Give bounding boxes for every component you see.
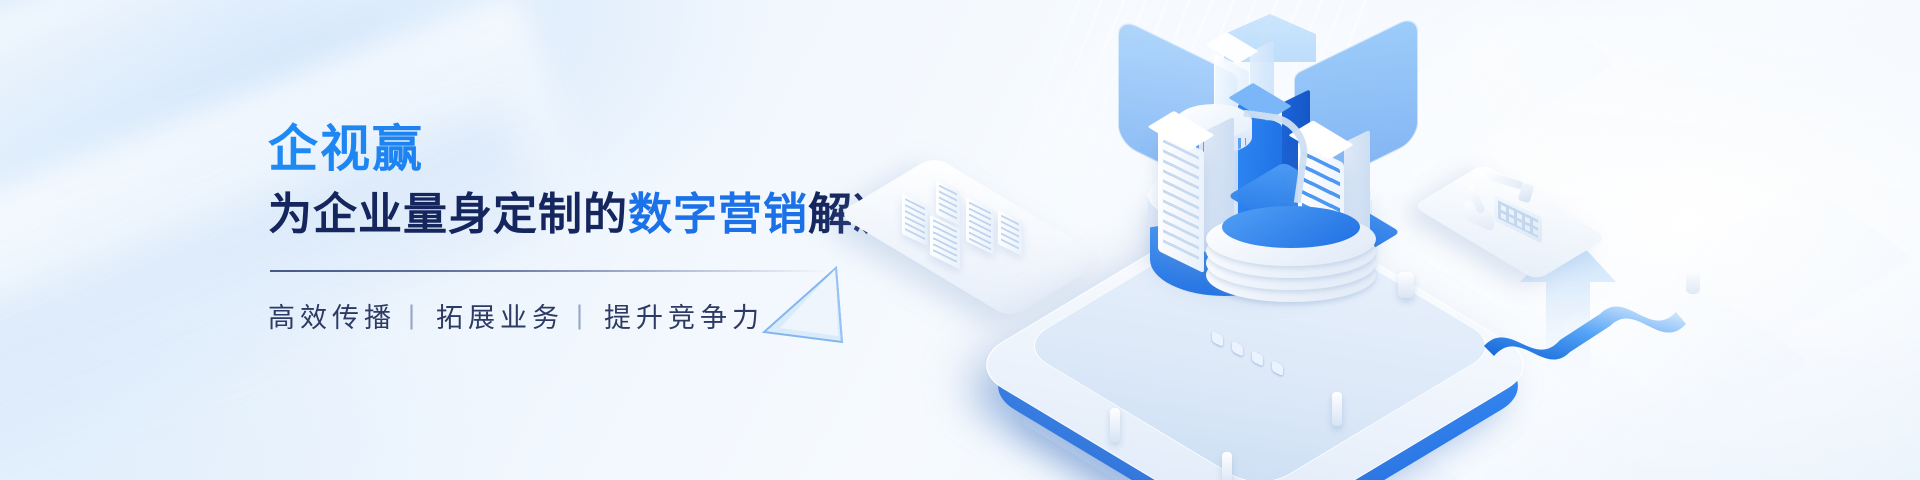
tagline-separator-2: |: [576, 300, 588, 331]
tagline-item-1: 高效传播: [268, 296, 396, 335]
headline-lead: 为企业量身定制的: [268, 190, 628, 239]
shelf-knob: [1398, 272, 1414, 298]
tagline-separator-1: |: [408, 300, 420, 331]
disc-core: [1222, 206, 1360, 248]
platform-leg: [1332, 392, 1342, 426]
floating-mini-city-platform: [874, 182, 1070, 294]
robot-arm-platform: [1440, 168, 1580, 254]
divider-rule: [270, 270, 830, 272]
headline: 为企业量身定制的数字营销解决方案: [268, 189, 908, 240]
layered-disc: [1206, 206, 1376, 302]
glass-triangle-icon: [750, 258, 854, 362]
tagline-item-2: 拓展业务: [436, 296, 564, 335]
white-tower: [1158, 129, 1204, 273]
platform-leg: [1222, 452, 1232, 480]
hero-banner: 企视赢 为企业量身定制的数字营销解决方案 高效传播 | 拓展业务 | 提升竞争力: [0, 0, 1920, 480]
hero-illustration: [860, 0, 1920, 480]
blue-ribbon: [1480, 300, 1690, 386]
tagline-item-3: 提升竞争力: [604, 296, 764, 335]
brand-title: 企视赢: [268, 122, 908, 177]
headline-highlight: 数字营销: [628, 190, 808, 239]
platform-leg: [1110, 408, 1120, 442]
shelf-knob-secondary: [1686, 270, 1700, 294]
